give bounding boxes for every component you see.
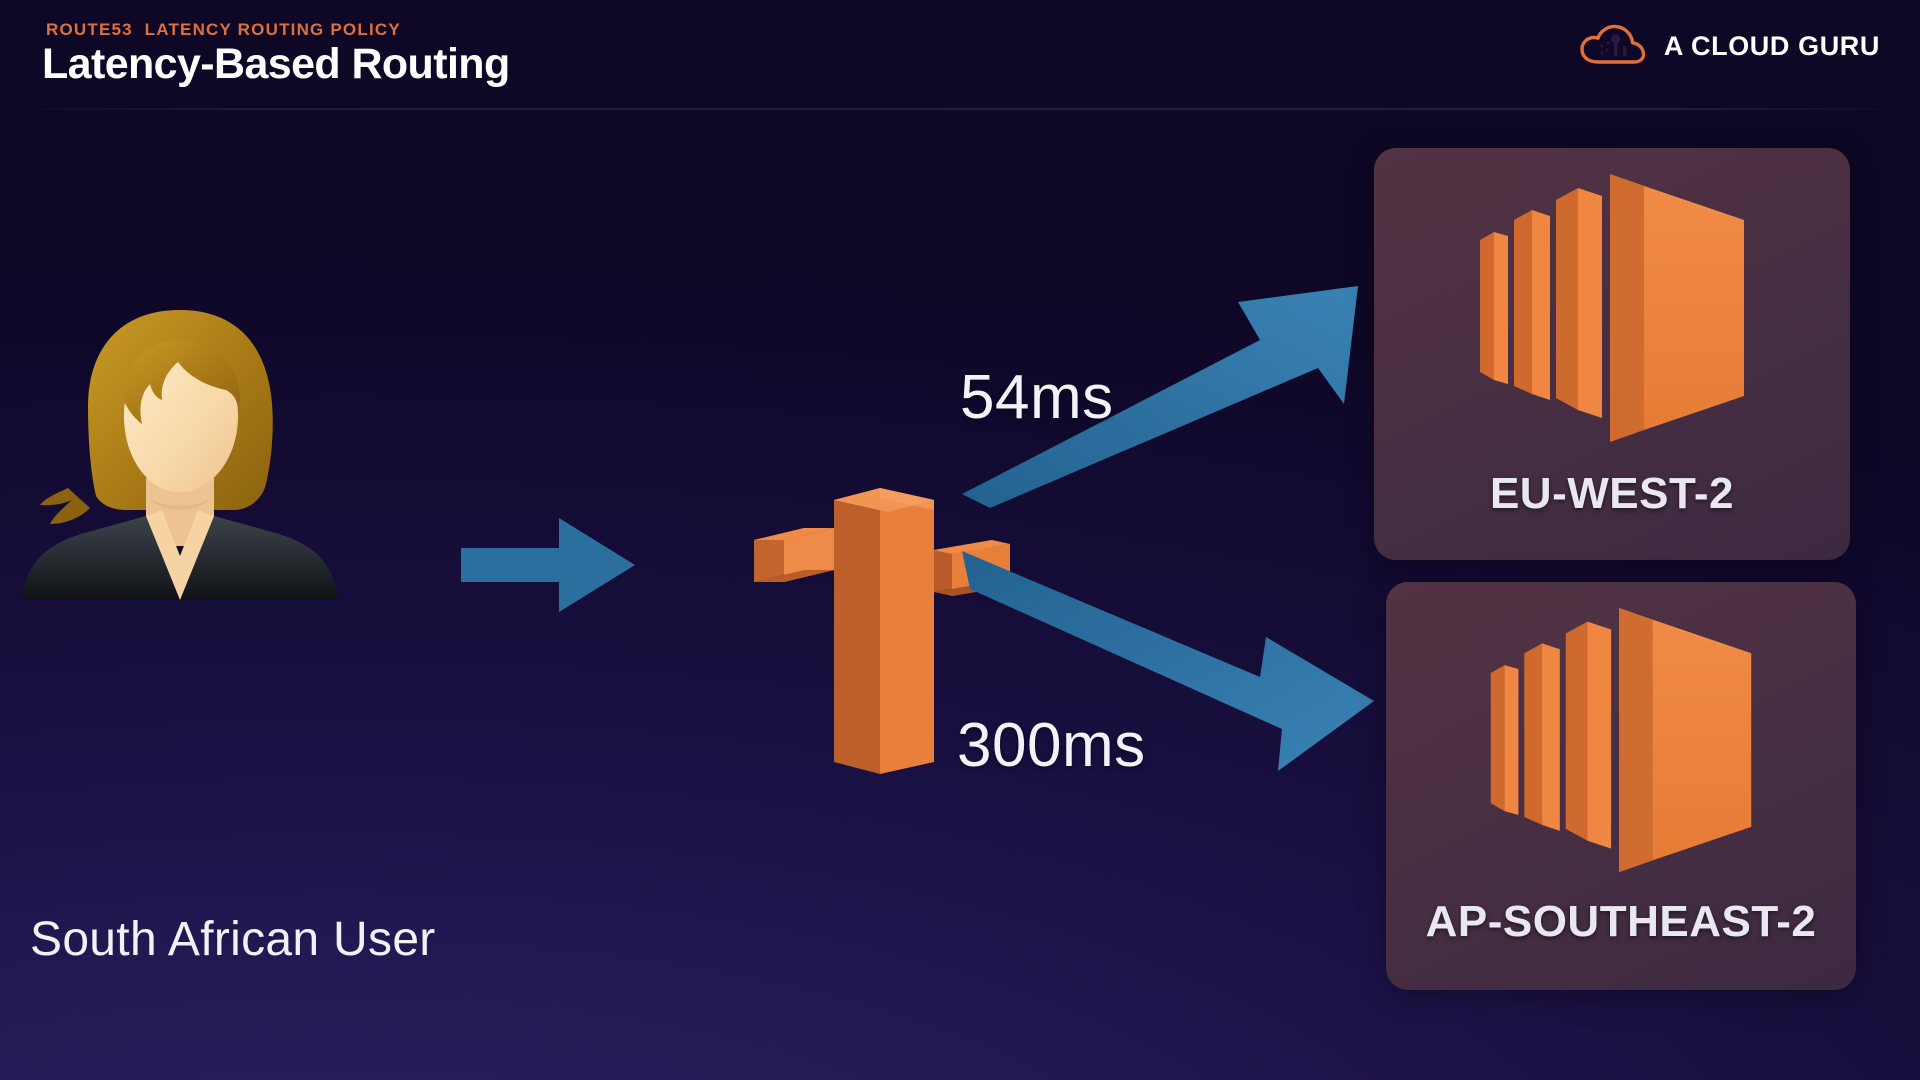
region-label-eu-west-2: EU-WEST-2 [1490,469,1734,519]
ec2-instances-icon [1471,596,1771,897]
user-label: South African User [30,912,436,967]
latency-label-eu: 54ms [960,362,1114,433]
cloud-guru-logo-icon [1578,22,1650,70]
header-kicker: ROUTE53 LATENCY ROUTING POLICY [46,20,401,40]
slide-header: ROUTE53 LATENCY ROUTING POLICY Latency-B… [0,0,1920,132]
latency-label-ap: 300ms [957,710,1146,781]
region-card-eu-west-2[interactable]: EU-WEST-2 [1374,148,1850,560]
user-avatar-icon [10,300,350,600]
avatar [10,300,350,600]
header-divider [42,108,1878,110]
ec2-instances-icon [1462,162,1762,467]
region-card-ap-southeast-2[interactable]: AP-SOUTHEAST-2 [1386,582,1856,990]
page-title: Latency-Based Routing [42,40,510,89]
user-block: South African User [0,300,470,600]
brand-lockup: A CLOUD GURU [1578,22,1880,70]
arrow-right-icon [455,510,645,620]
brand-name: A CLOUD GURU [1664,31,1880,62]
slide-canvas: ROUTE53 LATENCY ROUTING POLICY Latency-B… [0,0,1920,1080]
region-label-ap-southeast-2: AP-SOUTHEAST-2 [1426,897,1817,947]
